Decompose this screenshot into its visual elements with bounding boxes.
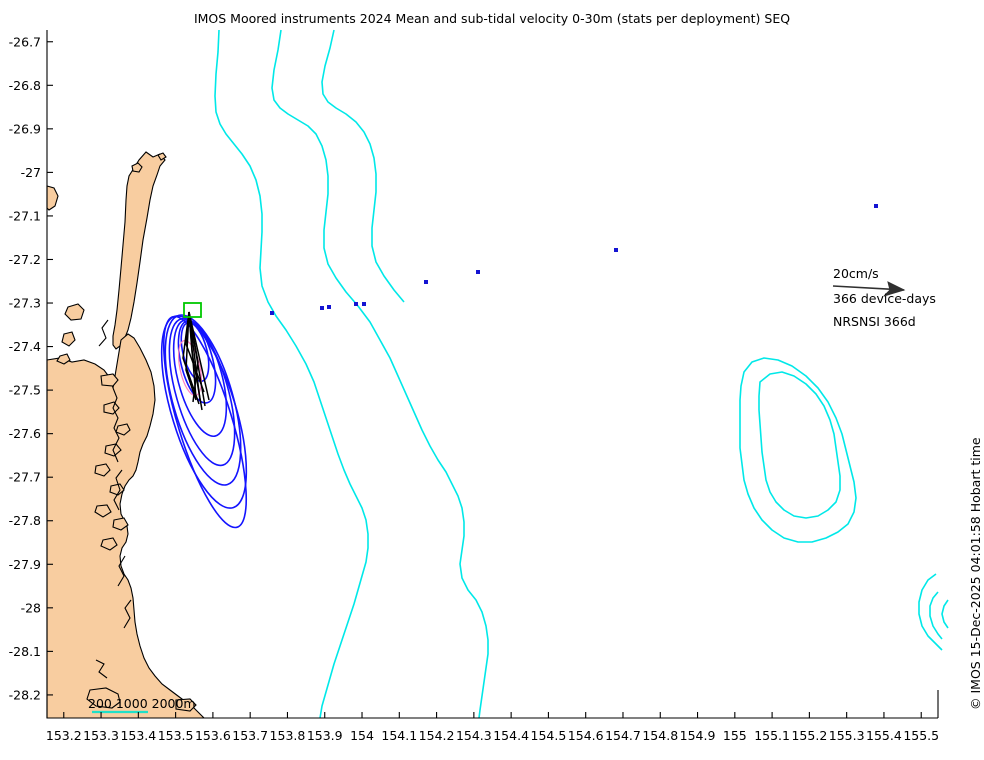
x-tick-label: 153.7 <box>232 728 268 743</box>
x-tick-label: 154 <box>350 728 374 743</box>
x-tick-label: 153.4 <box>120 728 156 743</box>
site-marker[interactable] <box>354 302 358 306</box>
x-tick-label: 155.1 <box>754 728 790 743</box>
figure-canvas: IMOS Moored instruments 2024 Mean and su… <box>0 0 984 760</box>
x-tick-label: 154.4 <box>493 728 529 743</box>
y-tick-label: -27.6 <box>9 426 41 441</box>
x-tick-label: 155.4 <box>866 728 902 743</box>
y-axis-ticks: -26.7-26.8-26.9-27-27.1-27.2-27.3-27.4-2… <box>9 34 53 702</box>
y-tick-label: -28.2 <box>9 687 41 702</box>
legend-device-days: 366 device-days <box>833 291 936 306</box>
y-tick-label: -28.1 <box>9 644 41 659</box>
x-tick-label: 153.2 <box>46 728 82 743</box>
y-tick-label: -28 <box>21 600 41 615</box>
y-tick-label: -27.9 <box>9 557 41 572</box>
y-tick-label: -27.1 <box>9 208 41 223</box>
legend-scale-label: 20cm/s <box>833 266 879 281</box>
map-plot: 153.2153.3153.4153.5153.6153.7153.8153.9… <box>0 0 984 760</box>
legend-site-label: NRSNSI 366d <box>833 314 916 329</box>
site-marker[interactable] <box>362 302 366 306</box>
x-tick-label: 153.9 <box>307 728 343 743</box>
y-tick-label: -27.3 <box>9 296 41 311</box>
x-tick-label: 154.5 <box>531 728 567 743</box>
x-tick-label: 154.7 <box>605 728 641 743</box>
x-tick-label: 154.2 <box>419 728 455 743</box>
y-tick-label: -26.9 <box>9 121 41 136</box>
y-tick-label: -27.8 <box>9 513 41 528</box>
site-marker[interactable] <box>614 248 618 252</box>
x-tick-label: 153.3 <box>83 728 119 743</box>
x-tick-label: 154.6 <box>568 728 604 743</box>
site-marker[interactable] <box>874 204 878 208</box>
y-tick-label: -26.7 <box>9 34 41 49</box>
x-tick-label: 153.5 <box>158 728 194 743</box>
x-tick-label: 154.8 <box>642 728 678 743</box>
site-marker[interactable] <box>327 305 331 309</box>
x-tick-label: 155.3 <box>829 728 865 743</box>
x-tick-label: 153.6 <box>195 728 231 743</box>
site-marker[interactable] <box>270 311 274 315</box>
site-marker[interactable] <box>424 280 428 284</box>
y-tick-label: -27.5 <box>9 383 41 398</box>
x-tick-label: 155.2 <box>791 728 827 743</box>
site-marker[interactable] <box>320 306 324 310</box>
x-tick-label: 154.9 <box>680 728 716 743</box>
y-tick-label: -27.2 <box>9 252 41 267</box>
depth-contour-legend-label: 200 1000 2000m <box>88 696 196 711</box>
x-tick-label: 155 <box>723 728 747 743</box>
x-tick-label: 154.3 <box>456 728 492 743</box>
y-tick-label: -27.7 <box>9 470 41 485</box>
contour-southeast-tail <box>942 600 948 628</box>
x-tick-label: 155.5 <box>903 728 939 743</box>
site-marker[interactable] <box>476 270 480 274</box>
x-tick-label: 153.8 <box>270 728 306 743</box>
x-tick-label: 154.1 <box>381 728 417 743</box>
credit-text: © IMOS 15-Dec-2025 04:01:58 Hobart time <box>968 437 983 710</box>
y-tick-label: -27.4 <box>9 339 41 354</box>
y-tick-label: -26.8 <box>9 78 41 93</box>
y-tick-label: -27 <box>21 165 41 180</box>
